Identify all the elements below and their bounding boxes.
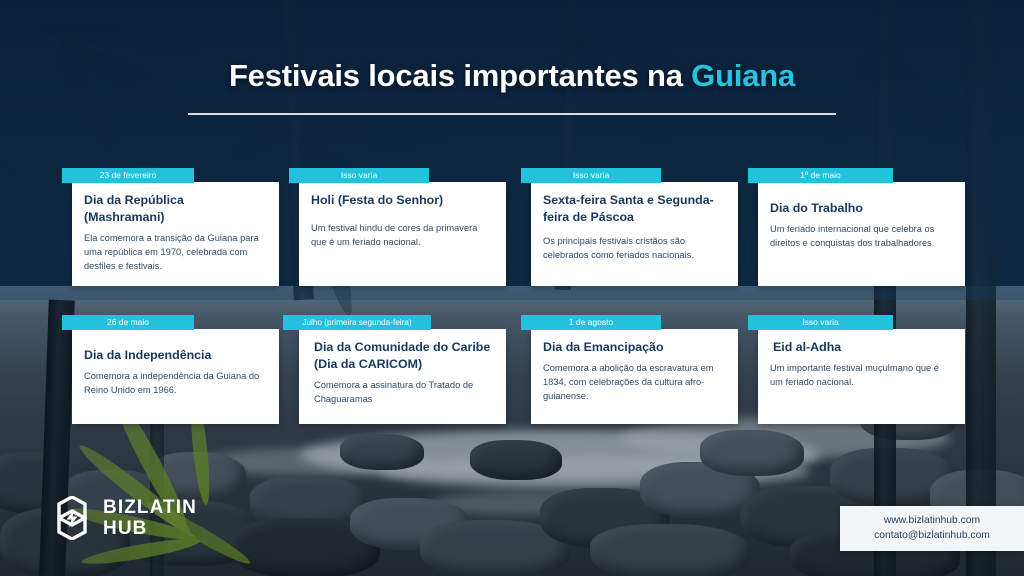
card-date-badge: Isso varia: [521, 168, 661, 183]
card-body: Dia da República (Mashramani) Ela comemo…: [72, 182, 279, 286]
card-date-badge: 26 de maio: [62, 315, 194, 330]
card-body: Eid al-Adha Um importante festival muçul…: [758, 329, 965, 424]
card-body: Dia do Trabalho Um feriado internacional…: [758, 182, 965, 286]
card-title: Dia da República (Mashramani): [84, 192, 267, 226]
page-title-accent: Guiana: [691, 58, 795, 93]
card-description: Comemora a abolição da escravatura em 18…: [543, 361, 726, 403]
card-body: Holi (Festa do Senhor) Um festival hindu…: [299, 182, 506, 286]
card-title: Sexta-feira Santa e Segunda-feira de Pás…: [543, 192, 726, 226]
card-description: Um feriado internacional que celebra os …: [770, 222, 953, 250]
card-date-badge: 1º de maio: [748, 168, 893, 183]
card-description: Um festival hindu de cores da primavera …: [311, 221, 494, 249]
logo-line-1: BIZLATIN: [103, 497, 197, 518]
festival-card[interactable]: Isso varia Sexta-feira Santa e Segunda-f…: [521, 168, 732, 286]
festival-card[interactable]: Isso varia Eid al-Adha Um importante fes…: [748, 315, 959, 424]
card-body: Dia da Emancipação Comemora a abolição d…: [531, 329, 738, 424]
card-title: Dia da Independência: [84, 347, 267, 364]
infographic-slide: Festivais locais importantes na Guiana 2…: [0, 0, 1024, 576]
card-body: Dia da Independência Comemora a independ…: [72, 329, 279, 424]
card-title: Holi (Festa do Senhor): [311, 192, 494, 209]
brand-logo[interactable]: BIZLATIN HUB: [52, 496, 197, 540]
card-date-badge: Julho (primeira segunda-feira): [283, 315, 431, 330]
festival-card[interactable]: 23 de fevereiro Dia da República (Mashra…: [62, 168, 273, 286]
card-date-badge: Isso varia: [748, 315, 893, 330]
contact-box: www.bizlatinhub.com contato@bizlatinhub.…: [840, 506, 1024, 551]
card-date-badge: 23 de fevereiro: [62, 168, 194, 183]
card-description: Comemora a independência da Guiana do Re…: [84, 369, 267, 397]
card-description: Um importante festival muçulmano que é u…: [770, 361, 953, 389]
page-title-main: Festivais locais importantes na: [229, 58, 691, 93]
card-row-1: 23 de fevereiro Dia da República (Mashra…: [0, 168, 1024, 318]
festival-card[interactable]: Julho (primeira segunda-feira) Dia da Co…: [289, 315, 500, 424]
festival-card[interactable]: 1 de agosto Dia da Emancipação Comemora …: [521, 315, 732, 424]
card-title: Dia da Comunidade do Caribe (Dia da CARI…: [311, 339, 494, 373]
card-description: Comemora a assinatura do Tratado de Chag…: [311, 378, 494, 406]
card-description: Ela comemora a transição da Guiana para …: [84, 231, 267, 273]
card-title: Dia da Emancipação: [543, 339, 726, 356]
logo-line-2: HUB: [103, 519, 197, 538]
card-date-badge: Isso varia: [289, 168, 429, 183]
logo-wordmark: BIZLATIN HUB: [103, 498, 197, 538]
festival-card[interactable]: 26 de maio Dia da Independência Comemora…: [62, 315, 273, 424]
page-title: Festivais locais importantes na Guiana: [0, 58, 1024, 94]
card-date-badge: 1 de agosto: [521, 315, 661, 330]
email-link[interactable]: contato@bizlatinhub.com: [854, 528, 1010, 543]
festival-card[interactable]: 1º de maio Dia do Trabalho Um feriado in…: [748, 168, 959, 286]
header: Festivais locais importantes na Guiana: [0, 58, 1024, 115]
festival-card[interactable]: Isso varia Holi (Festa do Senhor) Um fes…: [289, 168, 500, 286]
card-title: Dia do Trabalho: [770, 200, 953, 217]
card-title: Eid al-Adha: [770, 339, 953, 356]
title-underline: [188, 113, 836, 115]
bizlatinhub-logo-icon: [52, 496, 92, 540]
card-body: Sexta-feira Santa e Segunda-feira de Pás…: [531, 182, 738, 286]
card-row-2: 26 de maio Dia da Independência Comemora…: [0, 315, 1024, 465]
card-description: Os principais festivais cristãos são cel…: [543, 234, 726, 262]
card-body: Dia da Comunidade do Caribe (Dia da CARI…: [299, 329, 506, 424]
website-link[interactable]: www.bizlatinhub.com: [854, 513, 1010, 528]
